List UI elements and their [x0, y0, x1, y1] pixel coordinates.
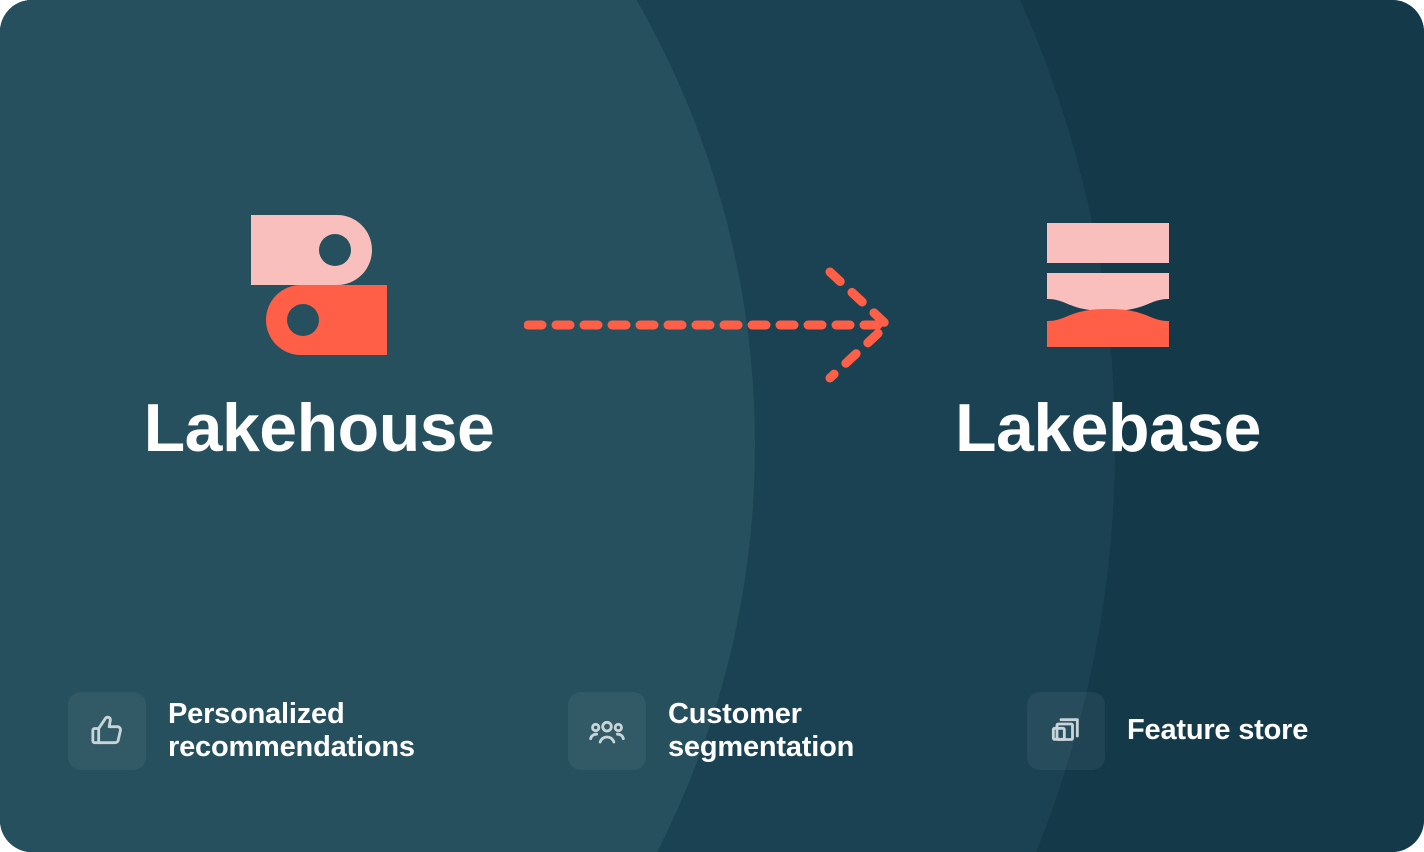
diagram-stage: Lakehouse — [0, 0, 1424, 852]
dashed-arrow-right-icon — [524, 262, 904, 388]
feature-item-personalized-recommendations: Personalized recommendations — [68, 692, 415, 770]
thumbs-up-icon — [68, 692, 146, 770]
stacked-squares-icon — [1027, 692, 1105, 770]
feature-label: Customer segmentation — [668, 698, 854, 764]
node-lakehouse: Lakehouse — [88, 200, 550, 462]
node-lakebase-title: Lakebase — [878, 394, 1338, 462]
node-lakebase: Lakebase — [878, 200, 1338, 462]
people-group-icon — [568, 692, 646, 770]
feature-list: Personalized recommendations Customer se… — [0, 692, 1424, 772]
diagram-canvas: Lakehouse — [0, 0, 1424, 852]
feature-label: Feature store — [1127, 714, 1308, 747]
node-lakehouse-title: Lakehouse — [88, 394, 550, 462]
lakehouse-logo-icon — [88, 200, 550, 370]
lakebase-logo-icon — [878, 200, 1338, 370]
feature-item-customer-segmentation: Customer segmentation — [568, 692, 854, 770]
feature-item-feature-store: Feature store — [1027, 692, 1308, 770]
feature-label: Personalized recommendations — [168, 698, 415, 764]
